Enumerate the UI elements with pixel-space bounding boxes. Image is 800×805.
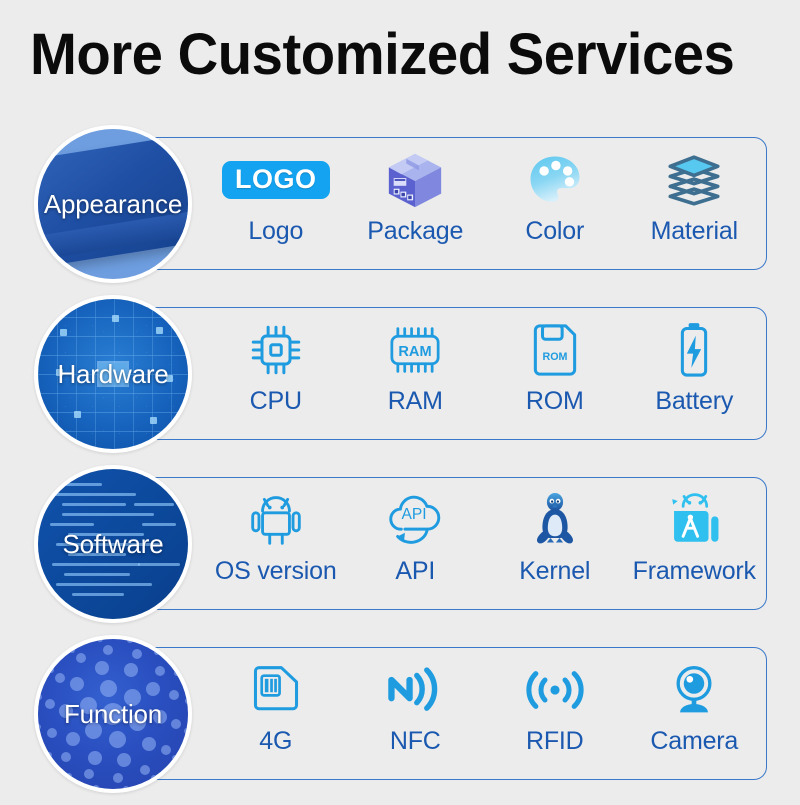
- category-row-appearance: LOGO Logo: [0, 125, 800, 295]
- category-row-hardware: CPU: [0, 295, 800, 465]
- item-cpu[interactable]: CPU: [206, 317, 346, 416]
- battery-bolt-icon: [677, 317, 711, 383]
- code-line: [64, 573, 130, 576]
- item-os-version[interactable]: OS version: [206, 487, 346, 586]
- category-circle-function[interactable]: Function: [34, 635, 192, 793]
- code-line: [50, 523, 94, 526]
- item-camera[interactable]: Camera: [625, 657, 765, 756]
- item-color[interactable]: Color: [485, 147, 625, 246]
- item-label: Color: [525, 217, 584, 246]
- item-label: API: [395, 557, 435, 586]
- category-circle-hardware[interactable]: Hardware: [34, 295, 192, 453]
- code-line: [72, 593, 124, 596]
- pattern-dot: [46, 752, 52, 758]
- code-line: [138, 563, 180, 566]
- ram-chip-icon: RAM: [385, 317, 445, 383]
- category-row-function: 4G NFC: [0, 635, 800, 805]
- pattern-dot: [185, 698, 191, 704]
- category-label: Hardware: [57, 359, 168, 390]
- item-battery[interactable]: Battery: [625, 317, 765, 416]
- pattern-dot: [146, 682, 160, 696]
- pattern-dot: [123, 786, 129, 792]
- pattern-dot: [93, 785, 99, 791]
- item-4g[interactable]: 4G: [206, 657, 346, 756]
- item-label: Framework: [633, 557, 756, 586]
- pattern-dot: [171, 719, 181, 729]
- pattern-dot: [55, 673, 65, 683]
- row-items: CPU: [200, 307, 770, 440]
- pattern-dot: [66, 773, 72, 779]
- android-robot-icon: [250, 487, 302, 553]
- pattern-dot: [184, 728, 190, 734]
- pattern-dot: [95, 661, 109, 675]
- cpu-chip-icon: [248, 317, 304, 383]
- pcb-pad: [156, 327, 163, 334]
- code-line: [134, 503, 174, 506]
- category-circle-software[interactable]: Software: [34, 465, 192, 623]
- item-label: CPU: [250, 387, 302, 416]
- item-label: Battery: [655, 387, 733, 416]
- api-cloud-icon: API: [383, 487, 447, 553]
- rfid-signal-icon: [524, 657, 586, 723]
- webcam-icon: [667, 657, 721, 723]
- code-line: [62, 513, 154, 516]
- item-rom[interactable]: ROM ROM: [485, 317, 625, 416]
- android-studio-icon: [665, 487, 723, 553]
- item-label: ROM: [526, 387, 584, 416]
- pattern-dot: [100, 680, 117, 697]
- item-label: Kernel: [519, 557, 590, 586]
- pattern-dot: [142, 737, 156, 751]
- pattern-dot: [84, 769, 94, 779]
- item-api[interactable]: API API: [346, 487, 486, 586]
- pattern-dot: [66, 732, 80, 746]
- pattern-dot: [47, 728, 57, 738]
- pattern-dot: [132, 649, 142, 659]
- pattern-dot: [169, 690, 179, 700]
- item-material[interactable]: Material: [625, 147, 765, 246]
- category-circle-appearance[interactable]: Appearance: [34, 125, 192, 283]
- pcb-pad: [150, 417, 157, 424]
- row-items: LOGO Logo: [200, 137, 770, 270]
- row-items: 4G NFC: [200, 647, 770, 780]
- pcb-pad: [60, 329, 67, 336]
- item-label: RFID: [526, 727, 584, 756]
- item-framework[interactable]: Framework: [625, 487, 765, 586]
- pattern-dot: [70, 677, 84, 691]
- item-ram[interactable]: RAM RAM: [346, 317, 486, 416]
- item-label: NFC: [390, 727, 441, 756]
- pattern-dot: [124, 663, 138, 677]
- code-line: [52, 563, 140, 566]
- category-label: Software: [62, 529, 163, 560]
- category-label: Function: [64, 699, 162, 730]
- item-label: Material: [651, 217, 738, 246]
- linux-penguin-icon: [528, 487, 582, 553]
- item-package[interactable]: Package: [346, 147, 486, 246]
- pattern-dot: [117, 753, 131, 767]
- pcb-pad: [74, 411, 81, 418]
- color-palette-icon: [526, 147, 584, 213]
- pattern-dot: [172, 755, 178, 761]
- code-line: [62, 503, 126, 506]
- code-line: [56, 583, 152, 586]
- sim-card-icon: [249, 657, 303, 723]
- pattern-dot: [103, 645, 113, 655]
- api-icon-text: API: [402, 506, 427, 523]
- page-title: More Customized Services: [30, 24, 734, 86]
- pattern-dot: [154, 649, 160, 655]
- pattern-dot: [113, 773, 123, 783]
- pattern-dot: [127, 637, 133, 643]
- item-label: Package: [367, 217, 463, 246]
- package-box-icon: [384, 147, 446, 213]
- pattern-dot: [161, 745, 171, 755]
- logo-badge-text: LOGO: [222, 161, 330, 199]
- material-layers-icon: [663, 147, 725, 213]
- pattern-dot: [35, 724, 41, 730]
- code-line: [50, 483, 102, 486]
- pattern-dot: [61, 752, 71, 762]
- pattern-dot: [151, 775, 157, 781]
- pattern-dot: [48, 667, 54, 673]
- logo-badge-icon: LOGO: [222, 147, 330, 213]
- pattern-dot: [174, 670, 180, 676]
- item-label: Logo: [248, 217, 303, 246]
- pattern-dot: [69, 647, 75, 653]
- category-row-software: OS version API API: [0, 465, 800, 635]
- rom-disk-icon: ROM: [530, 317, 580, 383]
- item-nfc[interactable]: NFC: [346, 657, 486, 756]
- pattern-dot: [45, 699, 55, 709]
- nfc-wave-icon: [386, 657, 444, 723]
- item-label: OS version: [215, 557, 337, 586]
- pattern-dot: [97, 636, 103, 642]
- rom-icon-text: ROM: [542, 351, 567, 363]
- item-logo[interactable]: LOGO Logo: [206, 147, 346, 246]
- code-line: [50, 493, 136, 496]
- pcb-pad: [112, 315, 119, 322]
- pattern-dot: [109, 731, 126, 748]
- item-label: RAM: [388, 387, 443, 416]
- pattern-dot: [76, 653, 86, 663]
- code-line: [142, 523, 176, 526]
- infographic-page: More Customized Services LOGO Logo: [0, 0, 800, 800]
- pattern-dot: [88, 751, 102, 765]
- pattern-dot: [140, 765, 150, 775]
- item-rfid[interactable]: RFID: [485, 657, 625, 756]
- ram-icon-text: RAM: [399, 344, 432, 360]
- item-label: 4G: [259, 727, 292, 756]
- pattern-dot: [36, 694, 42, 700]
- item-kernel[interactable]: Kernel: [485, 487, 625, 586]
- pattern-dot: [155, 666, 165, 676]
- row-items: OS version API API: [200, 477, 770, 610]
- item-label: Camera: [650, 727, 738, 756]
- category-label: Appearance: [44, 189, 182, 220]
